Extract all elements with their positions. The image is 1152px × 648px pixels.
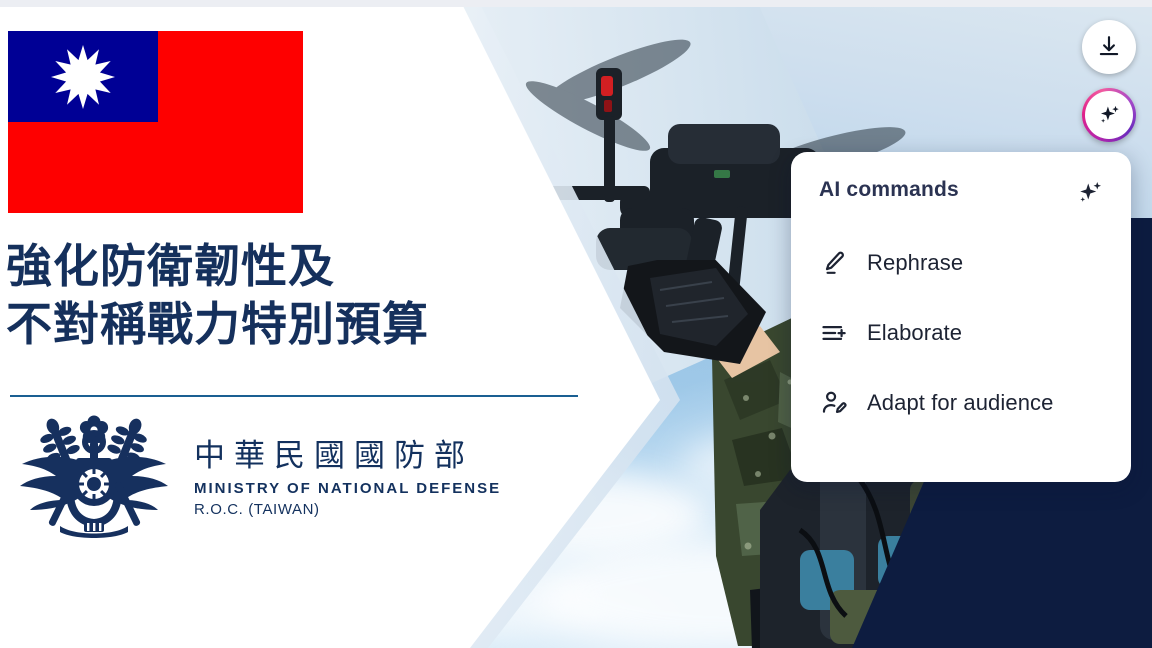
ai-command-elaborate[interactable]: Elaborate bbox=[819, 310, 1105, 355]
ai-command-label: Adapt for audience bbox=[867, 390, 1054, 416]
download-icon bbox=[1096, 34, 1122, 60]
ai-commands-title: AI commands bbox=[819, 178, 959, 202]
flag-canton bbox=[8, 31, 158, 122]
divider bbox=[10, 395, 578, 397]
ai-assist-button[interactable] bbox=[1082, 88, 1136, 142]
person-edit-icon bbox=[819, 388, 849, 418]
ministry-name-en: MINISTRY OF NATIONAL DEFENSE bbox=[194, 480, 501, 497]
ai-commands-list: Rephrase Elaborate bbox=[819, 240, 1105, 425]
download-button[interactable] bbox=[1082, 20, 1136, 74]
taiwan-flag bbox=[8, 31, 303, 213]
white-sun-icon bbox=[40, 45, 126, 109]
ai-sparkle-icon bbox=[1075, 178, 1105, 208]
pencil-icon bbox=[819, 248, 849, 278]
page-title: 強化防衛韌性及 不對稱戰力特別預算 bbox=[6, 238, 646, 354]
ministry-name-cn: 中華民國國防部 bbox=[194, 439, 501, 473]
ai-sparkle-icon bbox=[1096, 102, 1122, 128]
ai-command-adapt-for-audience[interactable]: Adapt for audience bbox=[819, 380, 1105, 425]
headline-line-2: 不對稱戰力特別預算 bbox=[6, 296, 646, 354]
ai-command-label: Rephrase bbox=[867, 250, 963, 276]
ai-command-rephrase[interactable]: Rephrase bbox=[819, 240, 1105, 285]
lines-plus-icon bbox=[819, 318, 849, 348]
ministry-country: R.O.C. (TAIWAN) bbox=[194, 501, 501, 518]
ai-commands-header: AI commands bbox=[819, 178, 1105, 208]
headline-line-1: 強化防衛韌性及 bbox=[6, 238, 646, 296]
slide-canvas: 強化防衛韌性及 不對稱戰力特別預算 bbox=[0, 0, 1152, 648]
ai-command-label: Elaborate bbox=[867, 320, 962, 346]
ministry-lockup: 中華民國國防部 MINISTRY OF NATIONAL DEFENSE R.O… bbox=[14, 414, 501, 539]
mond-emblem-icon bbox=[14, 414, 174, 539]
top-strip bbox=[0, 0, 1152, 7]
ai-commands-panel: AI commands Rephrase bbox=[791, 152, 1131, 482]
